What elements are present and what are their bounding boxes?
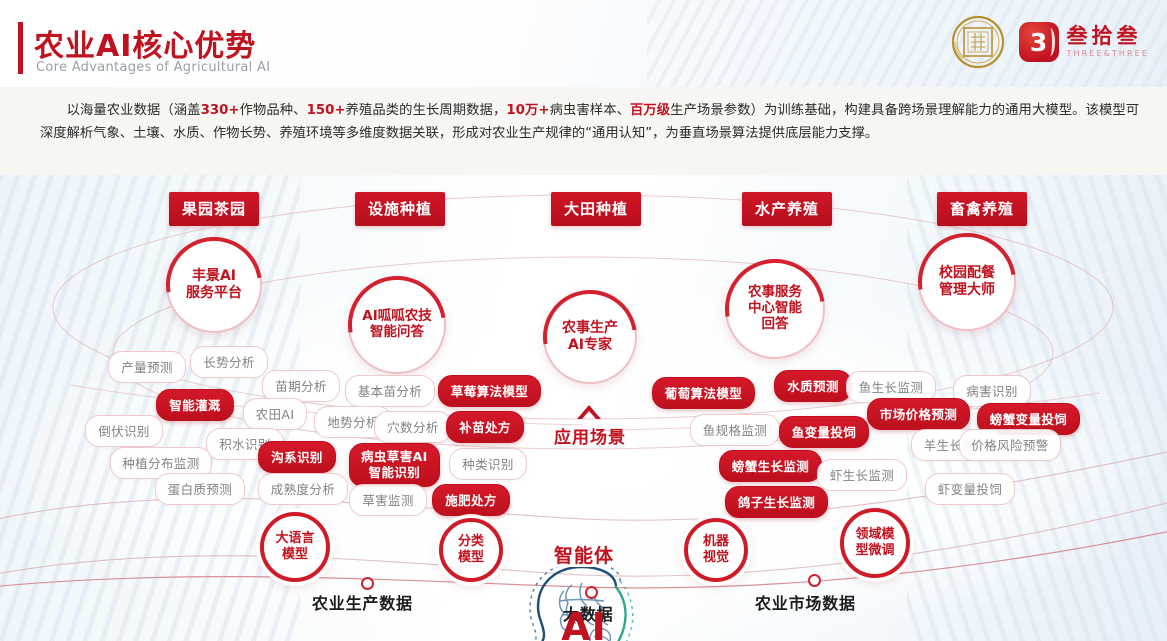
capability-tag[interactable]: 虾变量投饲 bbox=[925, 473, 1015, 505]
application-scenario-label: 应用场景 bbox=[540, 423, 640, 448]
logo-brand-en: THREE&THREE bbox=[1067, 50, 1149, 58]
page-title: 农业AI核心优势 bbox=[34, 21, 256, 65]
capability-tag[interactable]: 产量预测 bbox=[108, 351, 186, 383]
chevron-up-icon bbox=[575, 403, 603, 421]
scenario-ring-2[interactable]: AI呱呱农技智能问答 bbox=[348, 276, 446, 374]
desc-mid-1: 作物品种、 bbox=[239, 103, 306, 118]
slide-canvas: 农业AI核心优势 Core Advantages of Agricultural… bbox=[0, 0, 1167, 641]
model-ring[interactable]: 分类模型 bbox=[439, 518, 503, 582]
capability-tag[interactable]: 倒伏识别 bbox=[85, 415, 163, 447]
page-subtitle: Core Advantages of Agricultural AI bbox=[36, 60, 270, 75]
title-accent-bar bbox=[18, 22, 23, 74]
model-ring-label: 领域模型微调 bbox=[855, 527, 894, 558]
diagram-canvas: 果园茶园 设施种植 大田种植 水产养殖 畜禽养殖 应用场景 丰景AI服务平台 A… bbox=[0, 175, 1167, 641]
scenario-badge-4[interactable]: 水产养殖 bbox=[742, 192, 832, 226]
scenario-badge-3[interactable]: 大田种植 bbox=[551, 192, 641, 226]
scenario-ring-2-label: AI呱呱农技智能问答 bbox=[356, 309, 437, 341]
desc-highlight-1: 330+ bbox=[201, 103, 240, 118]
model-ring[interactable]: 大语言模型 bbox=[260, 512, 330, 582]
capability-tag[interactable]: 病虫草害AI智能识别 bbox=[349, 443, 440, 487]
capability-tag[interactable]: 成熟度分析 bbox=[258, 473, 348, 505]
data-source-label: 农业生产数据 bbox=[312, 590, 413, 614]
slide-header: 农业AI核心优势 Core Advantages of Agricultural… bbox=[0, 0, 1167, 87]
capability-tag[interactable]: 葡萄算法模型 bbox=[652, 377, 755, 409]
logo-brand-cn: 叁拾叁 bbox=[1067, 26, 1149, 47]
capability-tag[interactable]: 沟系识别 bbox=[258, 441, 336, 473]
description-band: 以海量农业数据（涵盖330+作物品种、150+养殖品类的生长周期数据，10万+病… bbox=[0, 87, 1167, 175]
model-ring-label: 机器视觉 bbox=[703, 534, 729, 565]
desc-highlight-4: 百万级 bbox=[630, 103, 670, 118]
scenario-ring-4-label: 农事服务中心智能回答 bbox=[742, 285, 808, 333]
circular-seal-emblem-icon bbox=[951, 15, 1005, 69]
data-source-node bbox=[808, 574, 821, 587]
capability-tag[interactable]: 长势分析 bbox=[190, 346, 268, 378]
logo-group: 3 叁拾叁 THREE&THREE bbox=[951, 14, 1149, 70]
model-ring[interactable]: 机器视觉 bbox=[684, 518, 748, 582]
scenario-ring-1[interactable]: 丰景AI服务平台 bbox=[166, 237, 262, 333]
scenario-badge-5[interactable]: 畜禽养殖 bbox=[937, 192, 1027, 226]
desc-highlight-3: 10万+ bbox=[506, 103, 549, 118]
logo-three-digit: 3 bbox=[1019, 22, 1059, 62]
desc-mid-2: 养殖品类的生长周期数据， bbox=[345, 103, 506, 118]
capability-tag[interactable]: 水质预测 bbox=[774, 370, 852, 402]
capability-tag[interactable]: 智能灌溉 bbox=[156, 389, 234, 421]
capability-tag[interactable]: 草害监测 bbox=[349, 484, 427, 516]
scenario-badge-1[interactable]: 果园茶园 bbox=[169, 192, 259, 226]
model-ring-label: 大语言模型 bbox=[275, 531, 314, 562]
capability-tag[interactable]: 穴数分析 bbox=[374, 411, 452, 443]
capability-tag[interactable]: 鱼规格监测 bbox=[690, 414, 780, 446]
capability-tag[interactable]: 市场价格预测 bbox=[867, 398, 970, 430]
capability-tag[interactable]: 施肥处方 bbox=[432, 484, 510, 516]
model-ring-label: 分类模型 bbox=[458, 534, 484, 565]
scenario-ring-3-label: 农事生产AI专家 bbox=[556, 320, 624, 353]
scenario-badge-2[interactable]: 设施种植 bbox=[355, 192, 445, 226]
capability-tag[interactable]: 补苗处方 bbox=[446, 411, 524, 443]
scenario-ring-4[interactable]: 农事服务中心智能回答 bbox=[725, 259, 825, 359]
agent-label: 智能体 bbox=[524, 541, 644, 568]
model-ring[interactable]: 领域模型微调 bbox=[840, 508, 910, 578]
data-source-node bbox=[361, 577, 374, 590]
desc-mid-3: 病虫害样本、 bbox=[550, 103, 631, 118]
capability-tag[interactable]: 农田AI bbox=[243, 398, 307, 430]
data-source-label: 农业市场数据 bbox=[755, 590, 856, 614]
desc-highlight-2: 150+ bbox=[307, 103, 346, 118]
capability-tag[interactable]: 鸽子生长监测 bbox=[725, 486, 828, 518]
capability-tag[interactable]: 鱼变量投饲 bbox=[779, 416, 869, 448]
capability-tag[interactable]: 基本苗分析 bbox=[345, 375, 435, 407]
capability-tag[interactable]: 价格风险预警 bbox=[959, 429, 1061, 461]
capability-tag[interactable]: 蛋白质预测 bbox=[155, 473, 245, 505]
data-source-node bbox=[585, 586, 598, 599]
capability-tag[interactable]: 螃蟹生长监测 bbox=[719, 450, 822, 482]
scenario-ring-5[interactable]: 校园配餐管理大师 bbox=[918, 233, 1016, 331]
capability-tag[interactable]: 草莓算法模型 bbox=[438, 375, 541, 407]
capability-tag[interactable]: 种类识别 bbox=[449, 448, 527, 480]
scenario-ring-3[interactable]: 农事生产AI专家 bbox=[543, 290, 637, 384]
three-and-three-logo: 3 叁拾叁 THREE&THREE bbox=[1019, 22, 1149, 62]
desc-lead: 以海量农业数据（涵盖 bbox=[67, 103, 201, 118]
ai-text: AI bbox=[520, 605, 648, 641]
scenario-ring-1-label: 丰景AI服务平台 bbox=[180, 268, 248, 301]
scenario-ring-5-label: 校园配餐管理大师 bbox=[933, 265, 1001, 298]
capability-tag[interactable]: 虾生长监测 bbox=[817, 459, 907, 491]
description-paragraph: 以海量农业数据（涵盖330+作物品种、150+养殖品类的生长周期数据，10万+病… bbox=[40, 99, 1139, 145]
